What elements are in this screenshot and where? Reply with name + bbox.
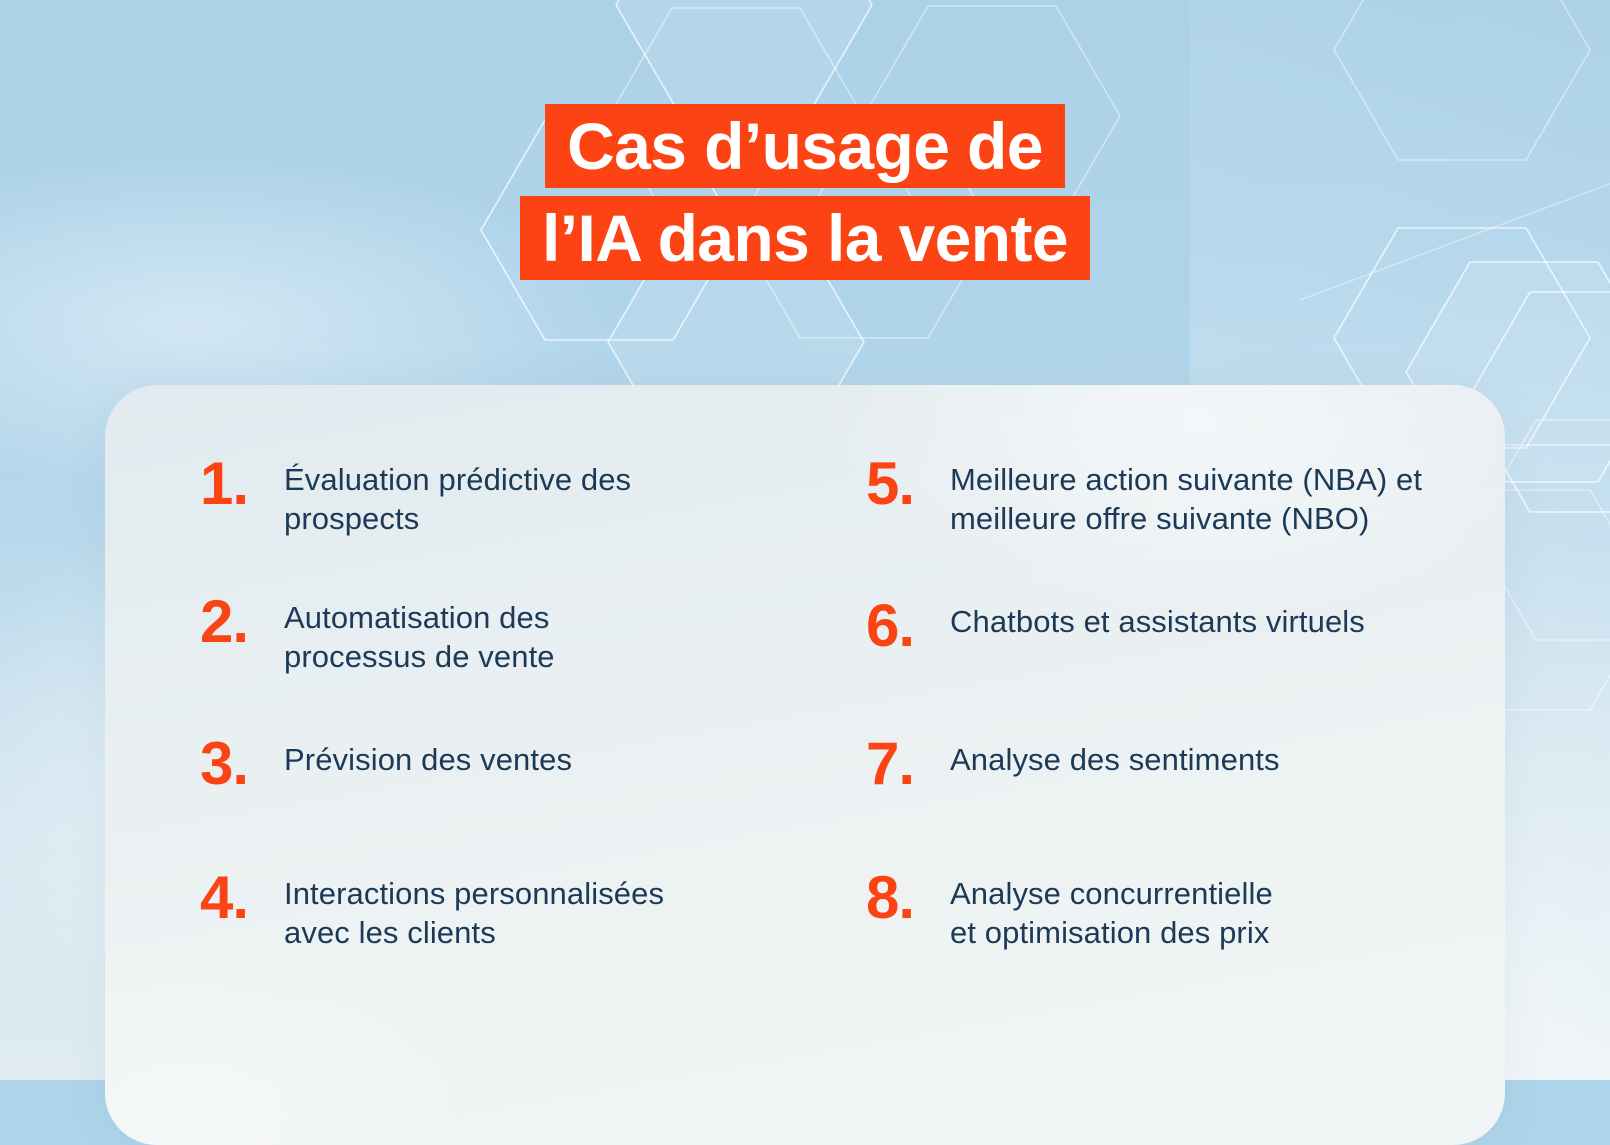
list-item: 6. Chatbots et assistants virtuels [866, 591, 1505, 729]
list-item-number: 8. [866, 867, 950, 929]
list-item-number: 7. [866, 729, 950, 795]
list-item-number: 4. [200, 867, 284, 929]
use-case-column-right: 5. Meilleure action suivante (NBA) et me… [830, 453, 1505, 1145]
list-item: 3. Prévision des ventes [200, 729, 830, 867]
list-item: 1. Évaluation prédictive des prospects [200, 453, 830, 591]
list-item: 7. Analyse des sentiments [866, 729, 1505, 867]
list-item-number: 2. [200, 591, 284, 653]
title-line-1: Cas d’usage de [0, 104, 1610, 188]
page-title: Cas d’usage de l’IA dans la vente [0, 104, 1610, 280]
list-item: 2. Automatisation des processus de vente [200, 591, 830, 729]
title-chip-1: Cas d’usage de [545, 104, 1065, 188]
list-item-label: Prévision des ventes [284, 729, 830, 779]
title-chip-2: l’IA dans la vente [520, 196, 1090, 280]
list-item-number: 1. [200, 453, 284, 515]
list-item-label: Automatisation des processus de vente [284, 591, 830, 676]
list-item-number: 5. [866, 453, 950, 515]
list-item: 5. Meilleure action suivante (NBA) et me… [866, 453, 1505, 591]
list-item-label: Interactions personnalisées avec les cli… [284, 867, 830, 952]
use-case-card: 1. Évaluation prédictive des prospects 2… [105, 385, 1505, 1145]
title-line-2: l’IA dans la vente [0, 196, 1610, 280]
list-item-label: Meilleure action suivante (NBA) et meill… [950, 453, 1505, 538]
use-case-column-left: 1. Évaluation prédictive des prospects 2… [200, 453, 830, 1145]
list-item-number: 3. [200, 729, 284, 795]
list-item-label: Chatbots et assistants virtuels [950, 591, 1505, 641]
list-item-number: 6. [866, 591, 950, 657]
list-item-label: Analyse des sentiments [950, 729, 1505, 779]
list-item-label: Analyse concurrentielle et optimisation … [950, 867, 1505, 952]
list-item: 4. Interactions personnalisées avec les … [200, 867, 830, 1005]
list-item: 8. Analyse concurrentielle et optimisati… [866, 867, 1505, 1005]
use-case-list: 1. Évaluation prédictive des prospects 2… [105, 385, 1505, 1145]
list-item-label: Évaluation prédictive des prospects [284, 453, 830, 538]
